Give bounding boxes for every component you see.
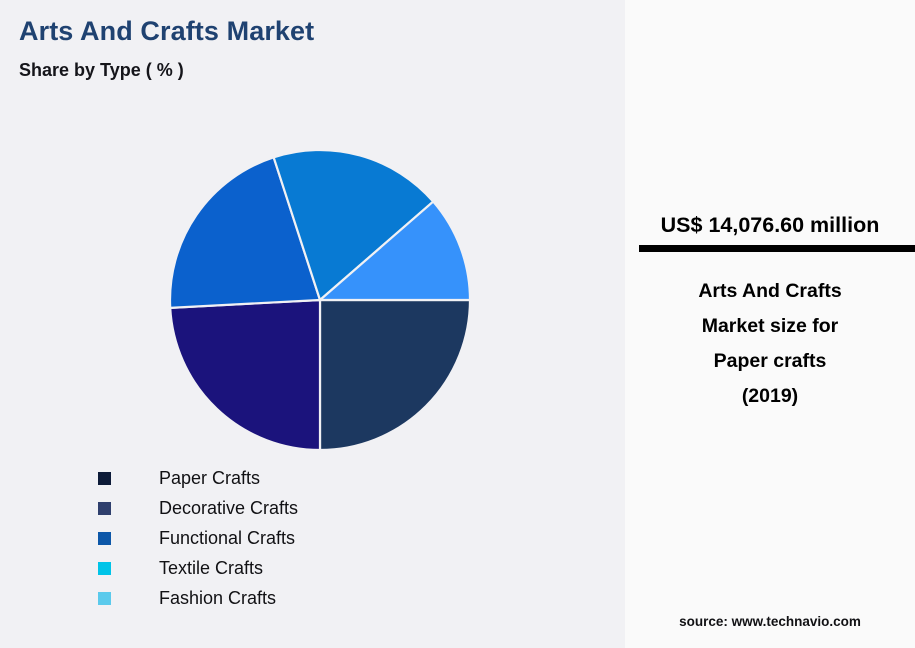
- pie-slice-paper-crafts[interactable]: [320, 300, 470, 450]
- pie-chart: [170, 150, 470, 450]
- source-note: source: www.technavio.com: [625, 614, 915, 629]
- legend-item-fashion-crafts[interactable]: Fashion Crafts: [98, 583, 518, 613]
- chart-panel: Arts And Crafts Market Share by Type ( %…: [0, 0, 625, 648]
- legend-item-paper-crafts[interactable]: Paper Crafts: [98, 463, 518, 493]
- callout-caption: Arts And Crafts Market size for Paper cr…: [635, 274, 905, 414]
- callout-caption-line-4: (2019): [635, 379, 905, 414]
- legend-label-fashion-crafts: Fashion Crafts: [159, 588, 276, 609]
- chart-subtitle: Share by Type ( % ): [19, 60, 184, 81]
- callout-caption-line-2: Market size for: [635, 309, 905, 344]
- legend-item-decorative-crafts[interactable]: Decorative Crafts: [98, 493, 518, 523]
- legend-swatch-paper-crafts: [98, 472, 111, 485]
- legend-label-decorative-crafts: Decorative Crafts: [159, 498, 298, 519]
- callout-value: US$ 14,076.60 million: [625, 213, 915, 238]
- callout-panel: US$ 14,076.60 million Arts And Crafts Ma…: [625, 0, 915, 648]
- legend-swatch-textile-crafts: [98, 562, 111, 575]
- callout-caption-line-1: Arts And Crafts: [635, 274, 905, 309]
- legend-item-functional-crafts[interactable]: Functional Crafts: [98, 523, 518, 553]
- callout-caption-line-3: Paper crafts: [635, 344, 905, 379]
- legend-swatch-fashion-crafts: [98, 592, 111, 605]
- chart-page: Arts And Crafts Market Share by Type ( %…: [0, 0, 915, 648]
- pie-slice-decorative-crafts[interactable]: [170, 300, 320, 450]
- legend-label-textile-crafts: Textile Crafts: [159, 558, 263, 579]
- legend-swatch-decorative-crafts: [98, 502, 111, 515]
- legend-label-paper-crafts: Paper Crafts: [159, 468, 260, 489]
- legend-item-textile-crafts[interactable]: Textile Crafts: [98, 553, 518, 583]
- legend-label-functional-crafts: Functional Crafts: [159, 528, 295, 549]
- pie-chart-svg: [170, 150, 470, 450]
- page-title: Arts And Crafts Market: [19, 16, 314, 47]
- legend-swatch-functional-crafts: [98, 532, 111, 545]
- chart-legend: Paper Crafts Decorative Crafts Functiona…: [98, 463, 518, 613]
- callout-divider: [639, 245, 915, 252]
